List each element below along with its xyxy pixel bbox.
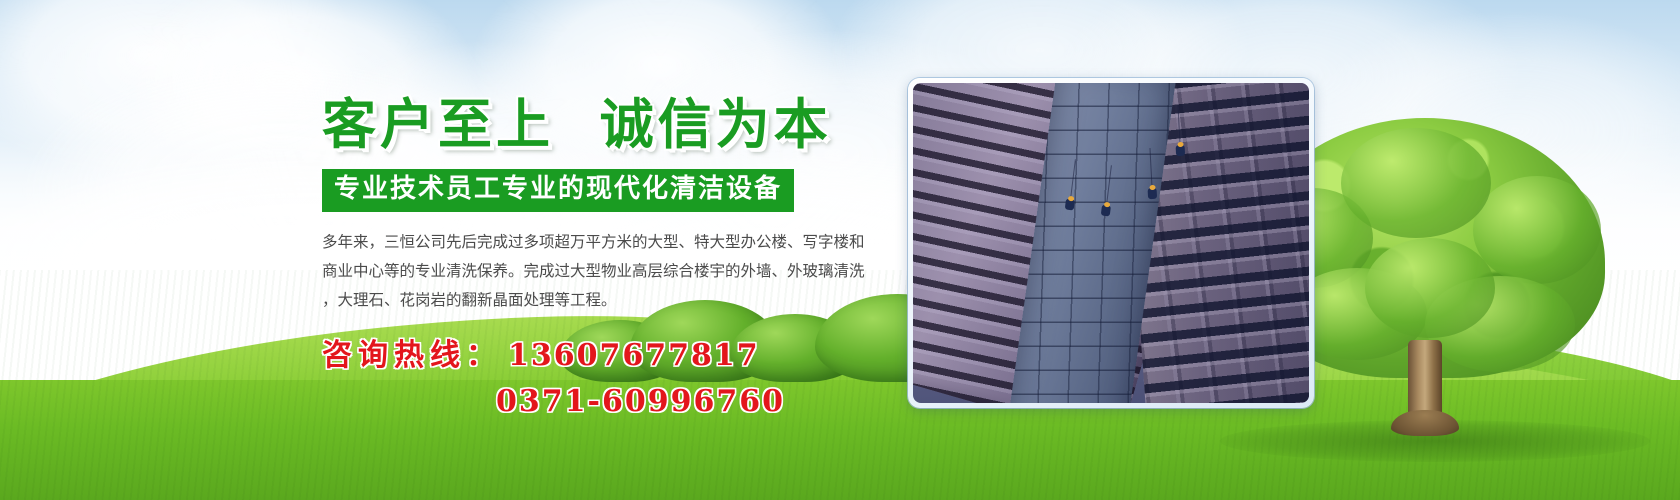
worker-helmet bbox=[1149, 185, 1155, 190]
worker-helmet bbox=[1177, 142, 1183, 147]
rope-access-worker bbox=[1176, 145, 1186, 162]
hotline-label: 咨询热线： bbox=[322, 338, 502, 373]
hotline-mobile-number[interactable]: 13607677817 bbox=[508, 338, 760, 373]
building-photo-frame[interactable] bbox=[908, 78, 1314, 408]
hotline-landline-number[interactable]: 0371-60996760 bbox=[496, 384, 902, 419]
foliage-cluster bbox=[1473, 176, 1601, 284]
foliage-cluster bbox=[1341, 128, 1491, 238]
banner-paragraph: 多年来，三恒公司先后完成过多项超万平方米的大型、特大型办公楼、写字楼和 商业中心… bbox=[322, 228, 884, 314]
hotline-primary-row: 咨询热线：13607677817 bbox=[322, 330, 902, 374]
rope-access-worker bbox=[1148, 188, 1158, 205]
paragraph-line: 商业中心等的专业清洗保养。完成过大型物业高层综合楼宇的外墙、外玻璃清洗 bbox=[322, 257, 884, 286]
building-photo bbox=[913, 83, 1309, 403]
worker-helmet bbox=[1103, 202, 1110, 208]
banner-subtitle-bar: 专业技术员工专业的现代化清洁设备 bbox=[322, 169, 794, 212]
tree-trunk bbox=[1408, 340, 1442, 436]
promo-banner: 客户至上 诚信为本 专业技术员工专业的现代化清洁设备 多年来，三恒公司先后完成过… bbox=[0, 0, 1680, 500]
paragraph-line: 多年来，三恒公司先后完成过多项超万平方米的大型、特大型办公楼、写字楼和 bbox=[322, 228, 884, 257]
foliage-cluster bbox=[1365, 238, 1495, 338]
hotline-block: 咨询热线：13607677817 0371-60996760 bbox=[322, 330, 902, 419]
banner-copy-block: 客户至上 诚信为本 专业技术员工专业的现代化清洁设备 多年来，三恒公司先后完成过… bbox=[322, 96, 902, 419]
banner-headline: 客户至上 诚信为本 bbox=[322, 96, 902, 153]
worker-helmet bbox=[1067, 196, 1074, 202]
paragraph-line: ，大理石、花岗岩的翻新晶面处理等工程。 bbox=[322, 286, 884, 315]
